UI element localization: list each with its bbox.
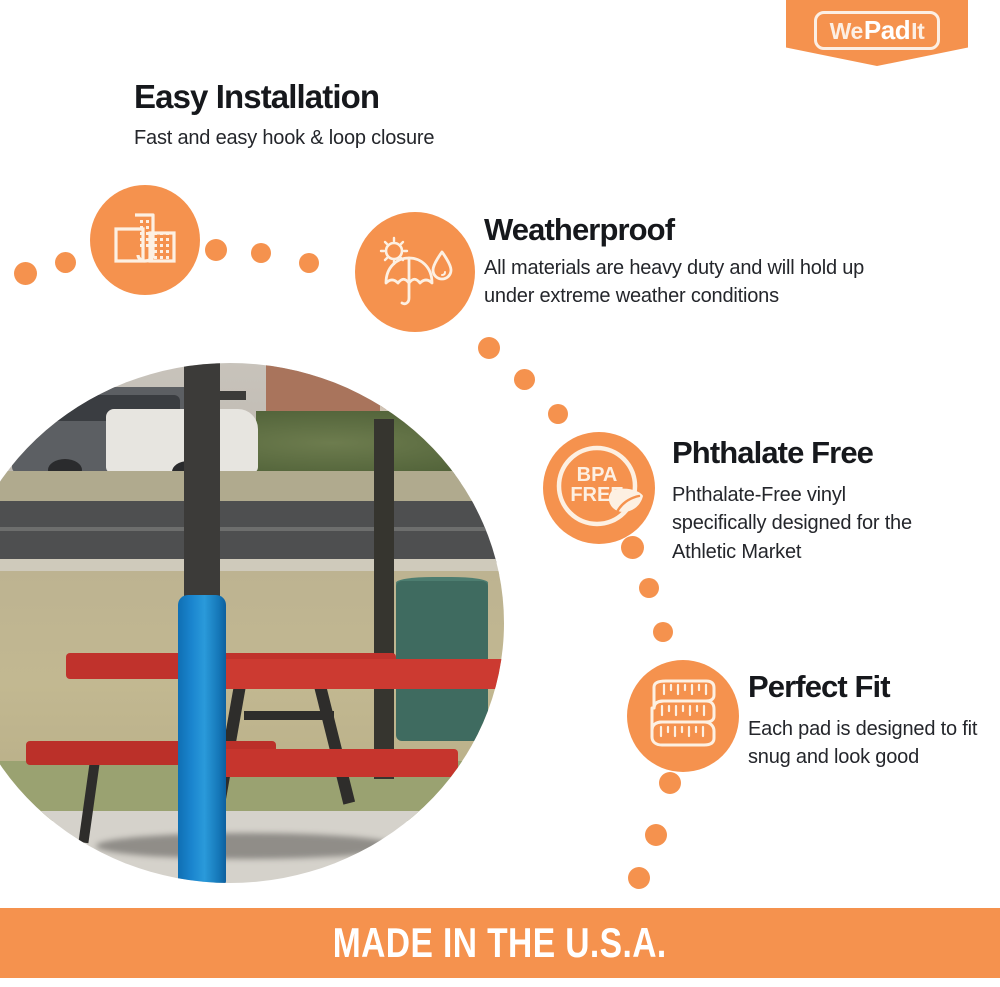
- brand-logo-frame: We Pad It: [814, 11, 941, 50]
- connector-dot: [653, 622, 673, 642]
- connector-dot: [478, 337, 500, 359]
- made-in-usa-banner: MADE IN THE U.S.A.: [0, 908, 1000, 978]
- connector-dot: [299, 253, 319, 273]
- connector-dot: [659, 772, 681, 794]
- feature-icon-circle-phthalate-free: BPA FREE: [543, 432, 655, 544]
- feature-description-weatherproof: All materials are heavy duty and will ho…: [484, 254, 904, 311]
- photo-table-shadow: [96, 833, 396, 859]
- feature-title-phthalate-free: Phthalate Free: [672, 437, 873, 470]
- feature-title-weatherproof: Weatherproof: [484, 214, 674, 247]
- umbrella-sun-raindrop-icon: [376, 236, 454, 308]
- photo-table-top: [218, 659, 504, 689]
- product-photo: [0, 363, 504, 883]
- feature-title-perfect-fit: Perfect Fit: [748, 671, 890, 704]
- photo-bench: [218, 749, 458, 777]
- feature-description-perfect-fit: Each pad is designed to fit snug and loo…: [748, 715, 980, 772]
- bpa-free-leaf-icon: BPA FREE: [551, 440, 647, 536]
- connector-dot: [621, 536, 644, 559]
- feature-icon-circle-easy-installation: [90, 185, 200, 295]
- connector-dot: [251, 243, 271, 263]
- bpa-free-icon-text: BPA FREE: [565, 466, 629, 505]
- bpa-line-2: FREE: [570, 484, 623, 506]
- connector-dot: [628, 867, 650, 889]
- photo-grass-strip: [0, 471, 504, 505]
- connector-dot: [55, 252, 76, 273]
- brand-text-we: We: [830, 20, 863, 43]
- measuring-tape-icon: [642, 675, 724, 757]
- connector-dot: [514, 369, 535, 390]
- brand-text-pad: Pad: [864, 17, 910, 43]
- connector-dot: [639, 578, 659, 598]
- feature-title-easy-installation: Easy Installation: [134, 80, 379, 115]
- photo-road: [0, 501, 504, 563]
- infographic-page: We Pad It Easy Installation Fast and eas…: [0, 0, 1000, 987]
- photo-table-brace: [244, 711, 334, 720]
- photo-post-right: [374, 419, 394, 779]
- feature-icon-circle-weatherproof: [355, 212, 475, 332]
- feature-description-phthalate-free: Phthalate-Free vinyl specifically design…: [672, 481, 942, 566]
- feature-description-easy-installation: Fast and easy hook & loop closure: [134, 124, 554, 152]
- connector-dot: [645, 824, 667, 846]
- made-in-usa-text: MADE IN THE U.S.A.: [333, 919, 667, 967]
- feature-icon-circle-perfect-fit: [627, 660, 739, 772]
- connector-dot: [205, 239, 227, 261]
- hook-and-loop-icon: [113, 211, 177, 269]
- connector-dot: [14, 262, 37, 285]
- brand-logo-badge[interactable]: We Pad It: [786, 0, 968, 66]
- connector-dot: [548, 404, 568, 424]
- photo-road-line: [0, 527, 504, 531]
- photo-blue-pole-pad: [178, 595, 226, 883]
- brand-text-it: It: [911, 20, 924, 43]
